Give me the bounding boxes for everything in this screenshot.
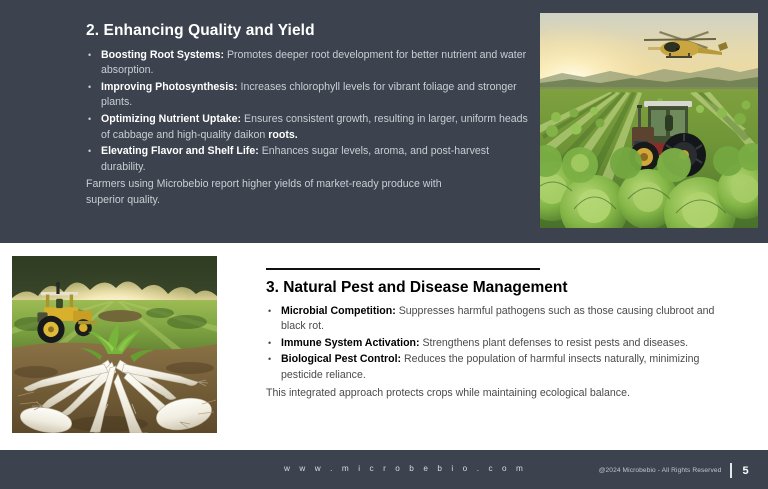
farmer-figure bbox=[56, 282, 60, 294]
list-item: Biological Pest Control: Reduces the pop… bbox=[266, 352, 726, 383]
section-3-content: 3. Natural Pest and Disease Management M… bbox=[266, 268, 726, 401]
daikon-radish-harvest-photo bbox=[12, 256, 217, 433]
cabbage-field-tractor-helicopter-photo bbox=[540, 13, 758, 228]
section-3-summary: This integrated approach protects crops … bbox=[266, 386, 726, 402]
bullet-lead: Elevating Flavor and Shelf Life: bbox=[101, 145, 259, 157]
list-item: Optimizing Nutrient Uptake: Ensures cons… bbox=[86, 112, 528, 143]
page-number: 5 bbox=[741, 465, 750, 477]
list-item: Boosting Root Systems: Promotes deeper r… bbox=[86, 48, 528, 79]
section-3-divider bbox=[266, 268, 540, 270]
footer-divider bbox=[730, 463, 732, 478]
bullet-lead: Biological Pest Control: bbox=[281, 353, 401, 365]
bullet-lead: Optimizing Nutrient Uptake: bbox=[101, 113, 241, 125]
section-2-content: 2. Enhancing Quality and Yield Boosting … bbox=[86, 22, 528, 209]
section-2-heading: 2. Enhancing Quality and Yield bbox=[86, 22, 528, 41]
footer-copyright: @2024 Microbebio - All Rights Reserved bbox=[599, 467, 722, 474]
bullet-lead: Improving Photosynthesis: bbox=[101, 81, 238, 93]
footer-right-group: @2024 Microbebio - All Rights Reserved 5 bbox=[599, 463, 750, 478]
bullet-text: Strengthens plant defenses to resist pes… bbox=[420, 337, 689, 349]
section-2-bullet-list: Boosting Root Systems: Promotes deeper r… bbox=[86, 48, 528, 176]
list-item: Immune System Activation: Strengthens pl… bbox=[266, 336, 726, 352]
bullet-lead: Microbial Competition: bbox=[281, 305, 396, 317]
footer-website-link[interactable]: w w w . m i c r o b e b i o . c o m bbox=[284, 464, 526, 473]
list-item: Microbial Competition: Suppresses harmfu… bbox=[266, 304, 726, 335]
daikon-harvest-illustration bbox=[12, 256, 217, 433]
slide-page: 2. Enhancing Quality and Yield Boosting … bbox=[0, 0, 768, 489]
bullet-emphasis: roots. bbox=[268, 129, 297, 141]
list-item: Improving Photosynthesis: Increases chlo… bbox=[86, 80, 528, 111]
list-item: Elevating Flavor and Shelf Life: Enhance… bbox=[86, 144, 528, 175]
page-footer: w w w . m i c r o b e b i o . c o m @202… bbox=[0, 450, 768, 489]
bullet-lead: Immune System Activation: bbox=[281, 337, 420, 349]
section-3-heading: 3. Natural Pest and Disease Management bbox=[266, 279, 726, 298]
section-2-summary: Farmers using Microbebio report higher y… bbox=[86, 177, 456, 208]
section-3-bullet-list: Microbial Competition: Suppresses harmfu… bbox=[266, 304, 726, 384]
cabbage-field-illustration bbox=[540, 13, 758, 228]
bullet-lead: Boosting Root Systems: bbox=[101, 49, 224, 61]
